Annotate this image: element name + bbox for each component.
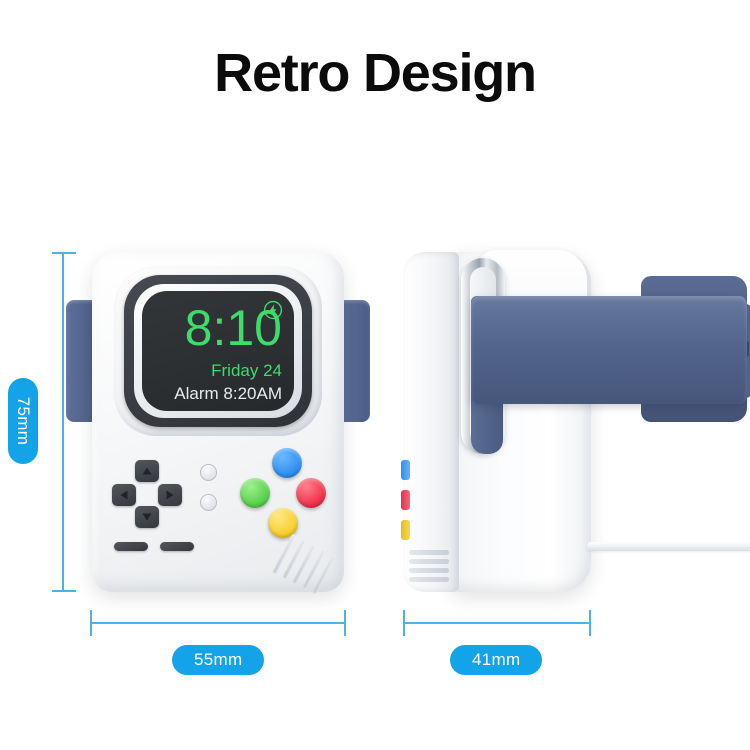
start-button[interactable] [200,494,217,511]
watch-frame: 8:10 Friday 24 Alarm 8:20AM [124,275,312,427]
side-width-cap-right [589,610,591,636]
small-buttons-group [200,464,217,524]
action-button-red[interactable] [296,478,326,508]
front-view-product: 8:10 Friday 24 Alarm 8:20AM [92,252,344,592]
dimension-badge-height-label: 75mm [13,397,33,445]
charging-cable [587,542,750,551]
pill-button-left[interactable] [114,542,148,551]
height-dim-cap-bottom [52,590,76,592]
front-width-cap-right [344,610,346,636]
dpad-right-icon[interactable] [158,484,182,506]
page-title: Retro Design [0,44,750,103]
speaker-grille-side [409,548,451,582]
screen-date: Friday 24 [211,361,282,381]
dpad-left-icon[interactable] [112,484,136,506]
dpad-down-icon[interactable] [135,506,159,528]
stand-front-panel [403,252,459,592]
dimension-badge-side-width: 41mm [450,645,542,675]
watch-bezel: 8:10 Friday 24 Alarm 8:20AM [114,266,322,436]
height-dim-line [62,252,64,592]
pill-buttons-group [114,542,194,551]
screen-alarm: Alarm 8:20AM [174,384,282,404]
watch-screen: 8:10 Friday 24 Alarm 8:20AM [142,291,294,411]
side-edge-button-blue [401,460,410,480]
speaker-grille-front [280,538,332,584]
watch-inner-ring: 8:10 Friday 24 Alarm 8:20AM [134,284,302,418]
front-width-dim-line [90,622,346,624]
dpad-control [112,460,182,530]
side-width-dim-line [403,622,591,624]
action-button-blue[interactable] [272,448,302,478]
height-dim-cap-top [52,252,76,254]
side-view-product [403,252,591,592]
action-buttons-group [234,448,326,538]
side-edge-button-red [401,490,410,510]
action-button-green[interactable] [240,478,270,508]
screen-time: 8:10 [142,303,282,353]
pill-button-right[interactable] [160,542,194,551]
dimension-badge-side-width-label: 41mm [472,650,520,670]
dimension-badge-height: 75mm [8,378,38,464]
watch-band-stub-right [340,300,370,422]
dimension-badge-front-width: 55mm [172,645,264,675]
dimension-badge-front-width-label: 55mm [194,650,242,670]
side-edge-button-yellow [401,520,410,540]
dpad-up-icon[interactable] [135,460,159,482]
watch-band-horizontal-segment [471,296,747,404]
select-button[interactable] [200,464,217,481]
